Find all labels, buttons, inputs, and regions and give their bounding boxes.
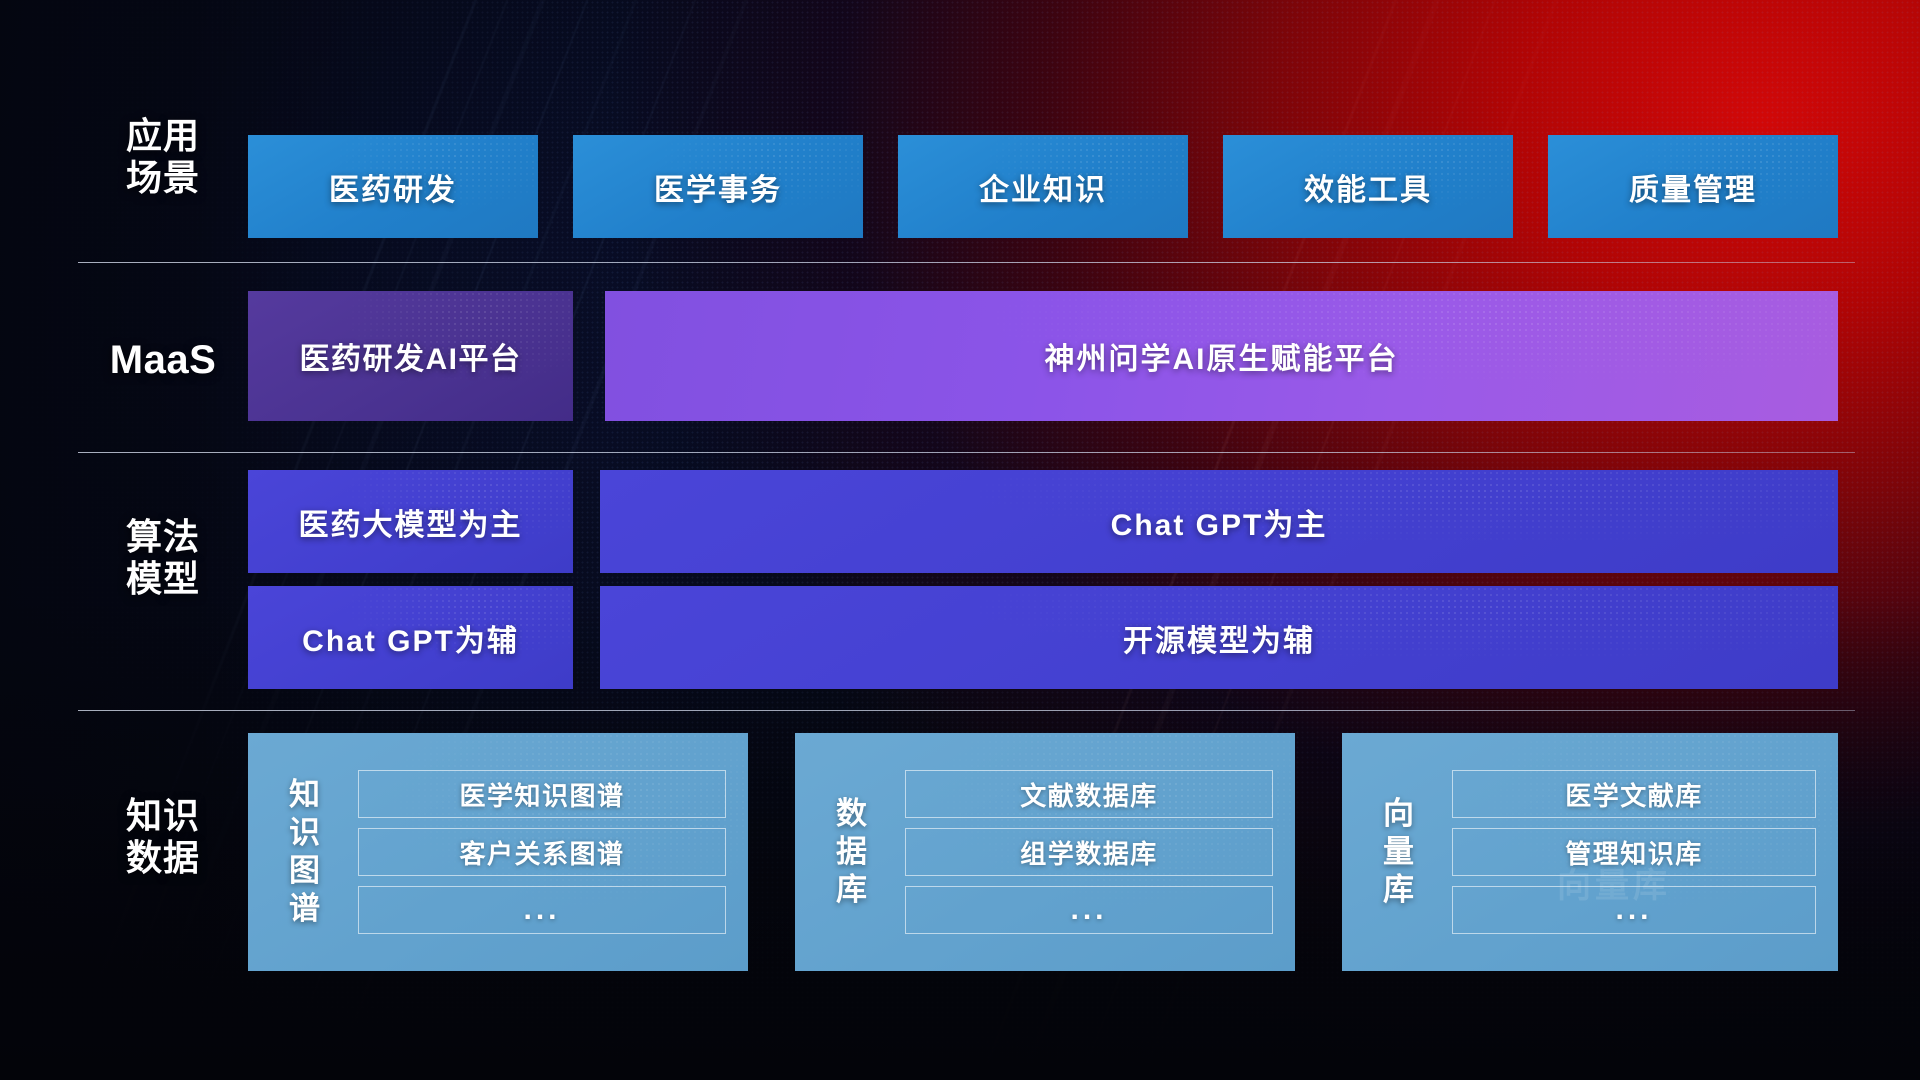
maas-card-shenzhou-platform[interactable]: 神州问学AI原生赋能平台 xyxy=(605,291,1838,421)
row-label-maas: MaaS xyxy=(78,337,248,384)
knowledge-group-vector[interactable]: 向量库 向 量 库 医学文献库 管理知识库 ... xyxy=(1342,733,1838,971)
app-card-2[interactable]: 医学事务 xyxy=(573,135,863,238)
knowledge-item[interactable]: 医学文献库 xyxy=(1452,770,1816,818)
knowledge-item-more[interactable]: ... xyxy=(905,886,1273,934)
knowledge-group-vector-title: 向 量 库 xyxy=(1368,795,1430,908)
app-card-3-label: 企业知识 xyxy=(979,165,1107,209)
algo-card-opensource-aux-label: 开源模型为辅 xyxy=(1123,616,1315,660)
knowledge-item[interactable]: 客户关系图谱 xyxy=(358,828,726,876)
row-label-application: 应用 场景 xyxy=(78,115,248,200)
app-card-5-label: 质量管理 xyxy=(1629,165,1757,209)
algo-card-chatgpt-main[interactable]: Chat GPT为主 xyxy=(600,470,1838,573)
knowledge-group-database[interactable]: 数 据 库 文献数据库 组学数据库 ... xyxy=(795,733,1295,971)
diagram-canvas: 应用 场景 医药研发 医学事务 企业知识 效能工具 质量管理 MaaS 医药研发… xyxy=(0,0,1920,1080)
knowledge-group-database-title: 数 据 库 xyxy=(821,795,883,908)
knowledge-item-more[interactable]: ... xyxy=(358,886,726,934)
algo-card-pharma-main[interactable]: 医药大模型为主 xyxy=(248,470,573,573)
app-card-2-label: 医学事务 xyxy=(654,165,782,209)
knowledge-group-database-items: 文献数据库 组学数据库 ... xyxy=(905,770,1273,934)
maas-card-pharma-platform[interactable]: 医药研发AI平台 xyxy=(248,291,573,421)
knowledge-group-graph-items: 医学知识图谱 客户关系图谱 ... xyxy=(358,770,726,934)
knowledge-group-graph[interactable]: 知 识 图 谱 医学知识图谱 客户关系图谱 ... xyxy=(248,733,748,971)
row-label-algorithm: 算法 模型 xyxy=(78,516,248,601)
app-card-4[interactable]: 效能工具 xyxy=(1223,135,1513,238)
knowledge-group-vector-items: 医学文献库 管理知识库 ... xyxy=(1452,770,1816,934)
algo-card-chatgpt-aux[interactable]: Chat GPT为辅 xyxy=(248,586,573,689)
algo-card-pharma-main-label: 医药大模型为主 xyxy=(299,500,523,544)
knowledge-group-graph-title: 知 识 图 谱 xyxy=(274,776,336,927)
divider-maas-algorithm xyxy=(78,452,1855,453)
knowledge-item[interactable]: 医学知识图谱 xyxy=(358,770,726,818)
knowledge-item[interactable]: 文献数据库 xyxy=(905,770,1273,818)
knowledge-item-more[interactable]: ... xyxy=(1452,886,1816,934)
app-card-5[interactable]: 质量管理 xyxy=(1548,135,1838,238)
algo-card-chatgpt-main-label: Chat GPT为主 xyxy=(1111,500,1328,544)
algo-card-opensource-aux[interactable]: 开源模型为辅 xyxy=(600,586,1838,689)
divider-algorithm-knowledge xyxy=(78,710,1855,711)
app-card-3[interactable]: 企业知识 xyxy=(898,135,1188,238)
app-card-4-label: 效能工具 xyxy=(1304,165,1432,209)
divider-application-maas xyxy=(78,262,1855,263)
maas-card-shenzhou-platform-label: 神州问学AI原生赋能平台 xyxy=(1045,334,1399,378)
app-card-1[interactable]: 医药研发 xyxy=(248,135,538,238)
app-card-1-label: 医药研发 xyxy=(329,165,457,209)
knowledge-item[interactable]: 管理知识库 xyxy=(1452,828,1816,876)
maas-card-pharma-platform-label: 医药研发AI平台 xyxy=(300,334,522,378)
algo-card-chatgpt-aux-label: Chat GPT为辅 xyxy=(302,616,519,660)
knowledge-item[interactable]: 组学数据库 xyxy=(905,828,1273,876)
row-label-knowledge: 知识 数据 xyxy=(78,795,248,880)
